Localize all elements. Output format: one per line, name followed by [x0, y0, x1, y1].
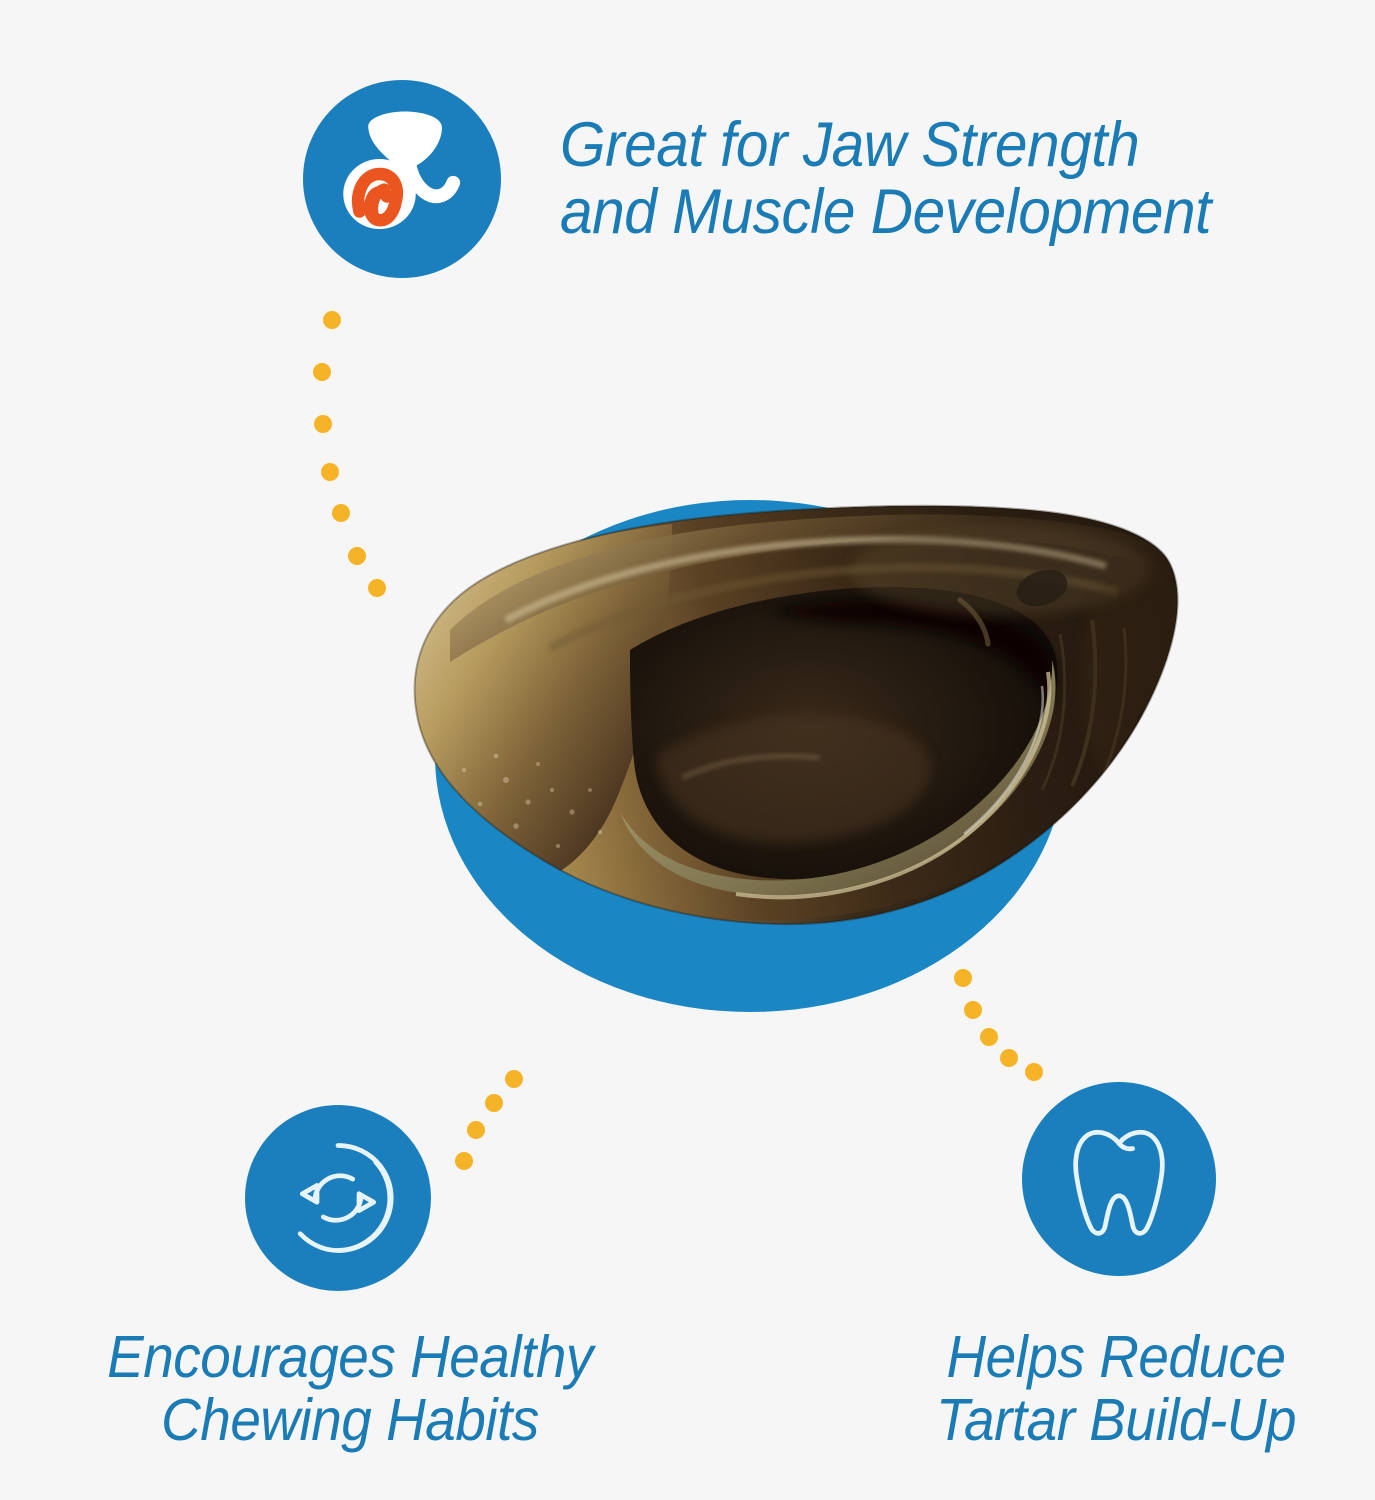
recycle-icon-badge [245, 1105, 431, 1291]
infographic-canvas: Great for Jaw Strength and Muscle Develo… [0, 0, 1375, 1500]
tooth-icon-badge [1022, 1082, 1216, 1276]
benefit-label-chewing-habits: Encourages Healthy Chewing Habits [29, 1326, 671, 1452]
benefit-label-tartar-reduction: Helps Reduce Tartar Build-Up [878, 1326, 1354, 1452]
recycle-cycle-icon [275, 1135, 401, 1261]
tooth-icon [1056, 1116, 1182, 1242]
connector-bottom-left-dots [0, 0, 1375, 1500]
